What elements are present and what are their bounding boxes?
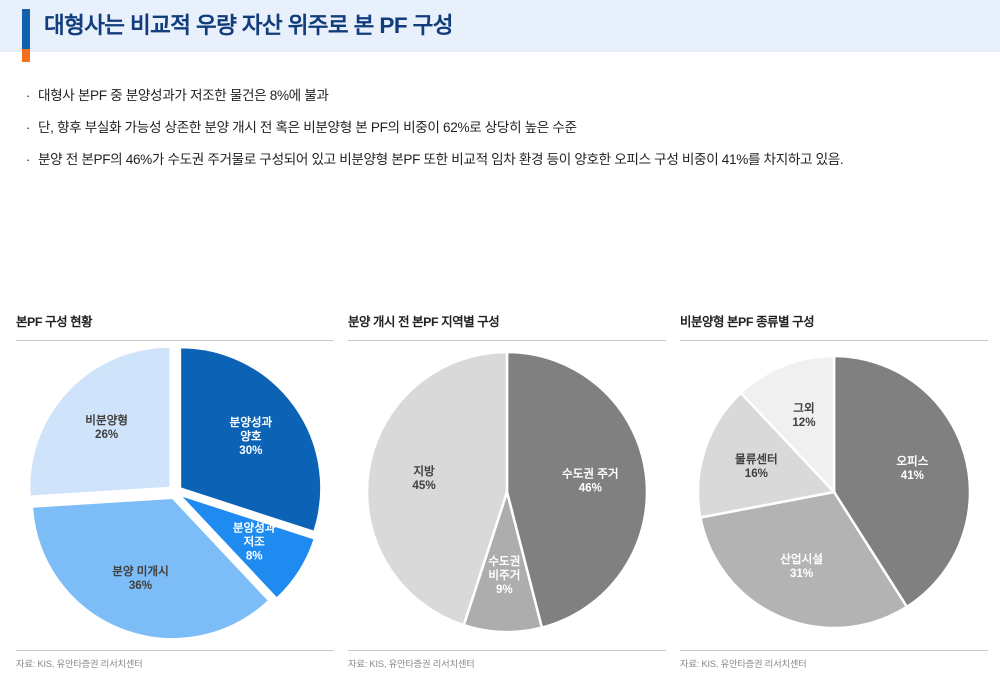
bullet-text: 단, 향후 부실화 가능성 상존한 분양 개시 전 혹은 비분양형 본 PF의 … [38,120,577,135]
pie-chart-3: 오피스41%산업시설31%물류센터16%그외12% [680,342,988,642]
chart-panel-3: 비분양형 본PF 종류별 구성 오피스41%산업시설31%물류센터16%그외12… [680,300,988,679]
chart-panel-2: 분양 개시 전 본PF 지역별 구성 수도권 주거46%수도권비주거9%지방45… [348,300,666,679]
chart-source-3: 자료: KIS, 유안타증권 리서치센터 [680,656,807,670]
bullet-marker-icon: · [26,86,30,105]
chart-rule-top [680,340,988,341]
pie-chart-2: 수도권 주거46%수도권비주거9%지방45% [348,342,666,642]
chart-rule-top [348,340,666,341]
chart-title-2: 분양 개시 전 본PF 지역별 구성 [348,300,666,330]
slide-root: 대형사는 비교적 우량 자산 위주로 본 PF 구성 · 대형사 본PF 중 분… [0,0,1000,679]
chart-rule-bottom [348,650,666,651]
bullet-item: · 단, 향후 부실화 가능성 상존한 분양 개시 전 혹은 비분양형 본 PF… [24,118,964,137]
chart-source-2: 자료: KIS, 유안타증권 리서치센터 [348,656,475,670]
pie-svg: 수도권 주거46%수도권비주거9%지방45% [357,342,657,642]
pie-chart-1: 분양성과양호30%분양성과저조8%분양 미개시36%비분양형26% [16,342,334,642]
chart-source-1: 자료: KIS, 유안타증권 리서치센터 [16,656,143,670]
bullet-item: · 대형사 본PF 중 분양성과가 저조한 물건은 8%에 불과 [24,86,964,105]
header-accent-bar [22,9,30,49]
page-title: 대형사는 비교적 우량 자산 위주로 본 PF 구성 [44,9,453,43]
chart-title-1: 본PF 구성 현황 [16,300,334,330]
pie-svg: 분양성과양호30%분양성과저조8%분양 미개시36%비분양형26% [25,342,325,642]
bullet-text: 대형사 본PF 중 분양성과가 저조한 물건은 8%에 불과 [38,88,329,103]
bullet-list: · 대형사 본PF 중 분양성과가 저조한 물건은 8%에 불과 · 단, 향후… [24,86,964,182]
bullet-marker-icon: · [26,150,30,169]
pie-slice-label: 그외12% [792,401,815,429]
bullet-marker-icon: · [26,118,30,137]
chart-title-3: 비분양형 본PF 종류별 구성 [680,300,988,330]
chart-rule-bottom [680,650,988,651]
bullet-text: 분양 전 본PF의 46%가 수도권 주거물로 구성되어 있고 비분양형 본PF… [38,152,843,167]
pie-slice-label: 지방45% [412,464,435,492]
pie-slice-label: 오피스41% [896,454,928,482]
bullet-item: · 분양 전 본PF의 46%가 수도권 주거물로 구성되어 있고 비분양형 본… [24,150,964,169]
chart-panel-1: 본PF 구성 현황 분양성과양호30%분양성과저조8%분양 미개시36%비분양형… [16,300,334,679]
pie-svg: 오피스41%산업시설31%물류센터16%그외12% [684,342,984,642]
chart-rule-top [16,340,334,341]
header-accent-square [22,49,30,62]
chart-rule-bottom [16,650,334,651]
